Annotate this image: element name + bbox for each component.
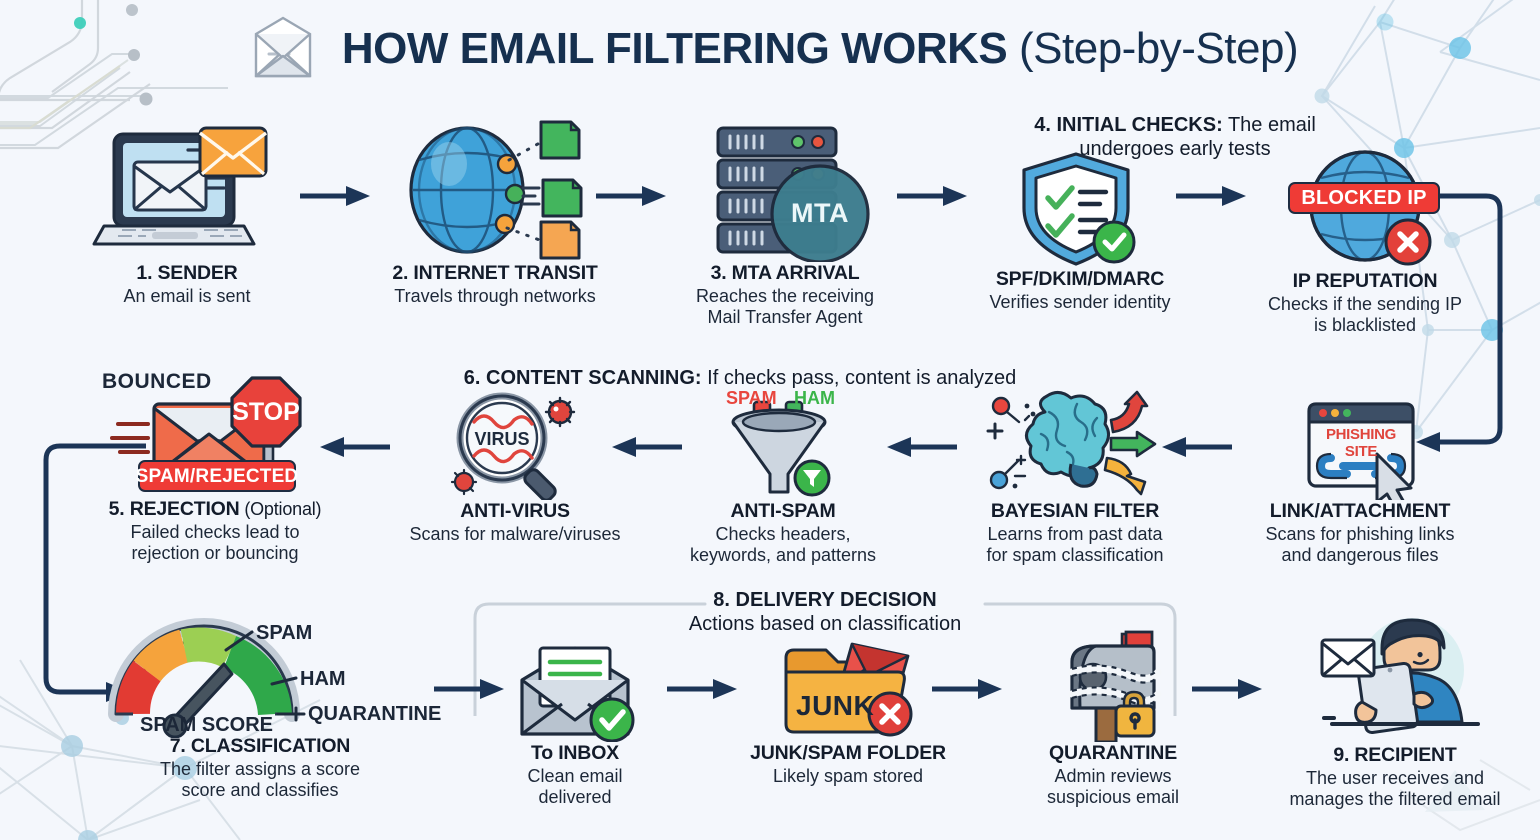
title-suffix: (Step-by-Step) (1019, 24, 1298, 73)
gauge-caption: SPAM SCORE (140, 714, 273, 737)
junk-folder-icon (768, 636, 928, 742)
title-main: HOW EMAIL FILTERING WORKS (342, 24, 1007, 73)
envelope-icon (242, 14, 324, 84)
step-mta-arrival[interactable]: MTA 3. MTA ARRIVAL Reaches the receiving… (665, 122, 905, 328)
node-title: 7. CLASSIFICATION (170, 735, 350, 757)
section-header-content-scanning: 6. CONTENT SCANNING: If checks pass, con… (370, 366, 1110, 390)
server-mta-icon (690, 122, 880, 262)
node-desc-line: Clean email (480, 766, 670, 787)
magnifier-virus-icon: VIRUS (440, 390, 590, 500)
node-title: 1. SENDER (136, 262, 237, 284)
spam-rejected-badge: SPAM/REJECTED (138, 460, 296, 492)
node-desc-line: for spam classification (950, 545, 1200, 566)
svg-text:VIRUS: VIRUS (474, 429, 529, 449)
node-title: 2. INTERNET TRANSIT (392, 262, 597, 284)
step-anti-virus[interactable]: VIRUS (395, 390, 635, 545)
node-desc-line: Mail Transfer Agent (665, 307, 905, 328)
step-quarantine[interactable]: QUARANTINE Admin reviews suspicious emai… (1003, 628, 1223, 808)
node-desc-line: rejection or bouncing (70, 543, 360, 564)
step-sender[interactable]: 1. SENDER An email is sent (82, 122, 292, 307)
node-desc-line: Checks if the sending IP (1240, 294, 1490, 315)
node-desc-line: Likely spam stored (773, 766, 923, 786)
node-desc-line: keywords, and patterns (672, 545, 894, 566)
junk-label: JUNK (796, 690, 874, 722)
step-bayesian-filter[interactable]: BAYESIAN FILTER Learns from past data fo… (950, 390, 1200, 566)
node-title: IP REPUTATION (1293, 270, 1438, 292)
node-desc-line: Reaches the receiving (665, 286, 905, 307)
node-desc-line: is blacklisted (1240, 315, 1490, 336)
step-spf-dkim-dmarc[interactable]: SPF/DKIM/DMARC Verifies sender identity (960, 150, 1200, 313)
envelope-check-icon (500, 636, 650, 742)
phishing-site-label: PHISHING SITE (1313, 426, 1409, 460)
sechead-rest: The email (1223, 114, 1316, 136)
step-internet-transit[interactable]: 2. INTERNET TRANSIT Travels through netw… (370, 118, 620, 307)
gauge-label-ham: HAM (300, 668, 346, 691)
sechead-bold: 6. CONTENT SCANNING: (464, 367, 702, 389)
node-desc-line: An email is sent (123, 286, 250, 306)
node-title: BAYESIAN FILTER (991, 500, 1159, 522)
step-link-attachment[interactable]: PHISHING SITE LINK/ATTACHMENT Scans for … (1230, 392, 1490, 566)
arrow-mta-to-spf (895, 183, 969, 209)
node-desc-line: delivered (480, 787, 670, 808)
svg-text:STOP: STOP (232, 398, 300, 426)
brain-arrows-icon (985, 390, 1165, 500)
node-title: 5. REJECTION (109, 498, 240, 520)
step-anti-spam[interactable]: SPAM HAM ANTI-SPAM Checks headers, keywo… (672, 392, 894, 566)
node-title: LINK/ATTACHMENT (1270, 500, 1450, 522)
node-desc-line: manages the filtered email (1255, 789, 1535, 810)
node-title: QUARANTINE (1049, 742, 1177, 764)
chained-mailbox-icon (1038, 628, 1188, 742)
node-desc-line: Checks headers, (672, 524, 894, 545)
step-rejection[interactable]: STOP BOUNCED SPAM/REJECTED 5. REJECTION … (70, 368, 360, 564)
node-title: ANTI-SPAM (730, 500, 835, 522)
node-desc-line: The filter assigns a score (95, 759, 425, 780)
node-desc-line: and dangerous files (1230, 545, 1490, 566)
node-desc-line: Admin reviews (1003, 766, 1223, 787)
node-title: To INBOX (531, 742, 619, 764)
arrow-bayesian-to-antispam (885, 434, 959, 460)
step-to-inbox[interactable]: To INBOX Clean email delivered (480, 636, 670, 808)
node-title: 9. RECIPIENT (1333, 744, 1456, 766)
node-title: ANTI-VIRUS (460, 500, 570, 522)
node-title: JUNK/SPAM FOLDER (750, 742, 946, 764)
node-title: SPF/DKIM/DMARC (996, 268, 1164, 290)
mta-badge: MTA (788, 198, 852, 229)
node-desc-line: Failed checks lead to (70, 522, 360, 543)
sechead-rest: If checks pass, content is analyzed (702, 367, 1017, 389)
node-desc-line: Verifies sender identity (989, 292, 1170, 312)
blocked-ip-badge: BLOCKED IP (1288, 182, 1440, 214)
globe-packets-icon (395, 118, 595, 262)
node-title-optional: (Optional) (240, 499, 322, 519)
node-desc-line: score and classifies (95, 780, 425, 801)
bounced-label: BOUNCED (102, 370, 212, 394)
node-desc-line: Learns from past data (950, 524, 1200, 545)
shield-check-icon (1010, 150, 1150, 268)
person-tablet-icon (1300, 618, 1490, 744)
page-title: HOW EMAIL FILTERING WORKS (Step-by-Step) (0, 14, 1540, 84)
node-desc-line: Travels through networks (394, 286, 595, 306)
arrow-sender-to-transit (298, 183, 372, 209)
node-desc-line: suspicious email (1003, 787, 1223, 808)
step-ip-reputation[interactable]: BLOCKED IP IP REPUTATION Checks if the s… (1240, 150, 1490, 336)
sechead-bold: 8. DELIVERY DECISION (713, 589, 936, 611)
gauge-label-spam: SPAM (256, 622, 312, 645)
node-desc-line: Scans for malware/viruses (409, 524, 620, 544)
infographic-canvas: HOW EMAIL FILTERING WORKS (Step-by-Step)… (0, 0, 1540, 840)
node-title: 3. MTA ARRIVAL (711, 262, 860, 284)
funnel-spam-label: SPAM (726, 388, 777, 409)
funnel-ham-label: HAM (794, 388, 835, 409)
step-junk-spam-folder[interactable]: JUNK JUNK/SPAM FOLDER Likely spam stored (723, 636, 973, 787)
sechead-bold: 4. INITIAL CHECKS: (1034, 114, 1223, 136)
step-recipient[interactable]: 9. RECIPIENT The user receives and manag… (1255, 618, 1535, 810)
step-classification[interactable]: SPAM HAM QUARANTINE SPAM SCORE 7. CLASSI… (95, 618, 425, 801)
laptop-email-icon (92, 122, 282, 262)
gauge-label-quarantine: QUARANTINE (308, 703, 441, 726)
node-desc-line: The user receives and (1255, 768, 1535, 789)
node-desc-line: Scans for phishing links (1230, 524, 1490, 545)
